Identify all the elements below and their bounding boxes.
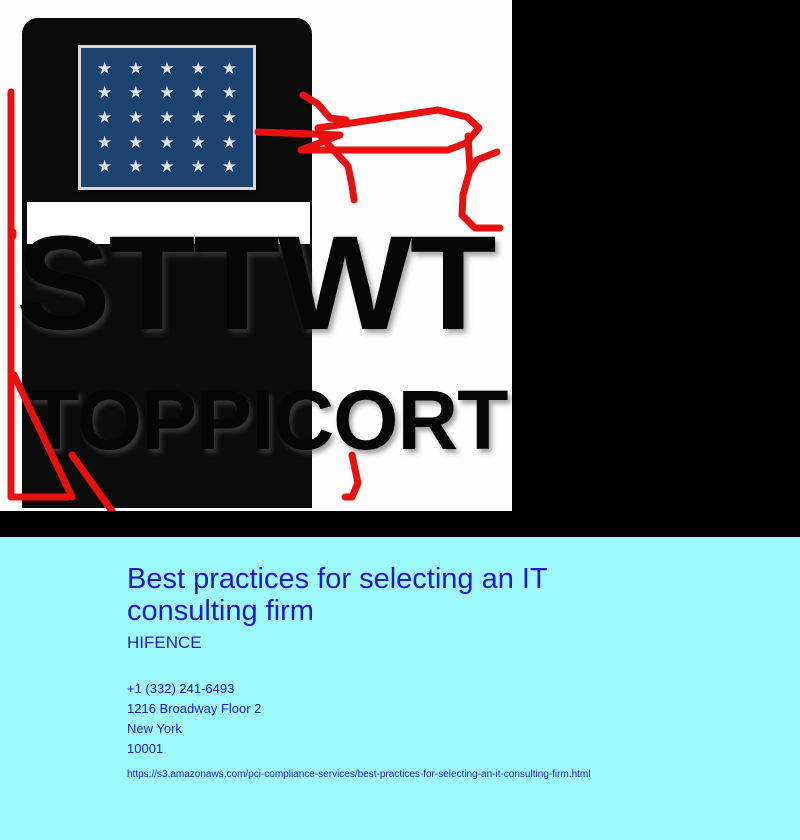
star-icon: ★ [128, 60, 143, 77]
page-root: ★ ★ ★ ★ ★ ★ ★ ★ ★ ★ ★ ★ ★ ★ ★ ★ ★ [0, 0, 800, 840]
red-stroke-down [318, 133, 354, 200]
contact-block: +1 (332) 241-6493 1216 Broadway Floor 2 … [127, 679, 780, 759]
star-icon: ★ [97, 158, 112, 175]
star-icon: ★ [159, 109, 174, 126]
star-icon: ★ [97, 60, 112, 77]
star-icon: ★ [191, 158, 206, 175]
star-icon: ★ [159, 134, 174, 151]
page-title: Best practices for selecting an IT consu… [127, 563, 627, 627]
contact-phone: +1 (332) 241-6493 [127, 679, 780, 699]
star-icon: ★ [159, 84, 174, 101]
artwork-headline-line2: TOPPICORT [28, 378, 508, 462]
thumbnail-media-area: ★ ★ ★ ★ ★ ★ ★ ★ ★ ★ ★ ★ ★ ★ ★ ★ ★ [0, 0, 800, 537]
artwork-canvas: ★ ★ ★ ★ ★ ★ ★ ★ ★ ★ ★ ★ ★ ★ ★ ★ ★ [0, 0, 512, 511]
star-icon: ★ [222, 84, 237, 101]
info-panel: Best practices for selecting an IT consu… [0, 537, 800, 840]
star-icon: ★ [128, 109, 143, 126]
star-icon: ★ [159, 158, 174, 175]
star-icon: ★ [128, 84, 143, 101]
star-grid: ★ ★ ★ ★ ★ ★ ★ ★ ★ ★ ★ ★ ★ ★ ★ ★ ★ [89, 56, 245, 179]
contact-street: 1216 Broadway Floor 2 [127, 699, 780, 719]
star-icon: ★ [97, 84, 112, 101]
contact-city: New York [127, 719, 780, 739]
star-icon: ★ [222, 60, 237, 77]
star-icon: ★ [159, 60, 174, 77]
star-panel: ★ ★ ★ ★ ★ ★ ★ ★ ★ ★ ★ ★ ★ ★ ★ ★ ★ [78, 45, 256, 190]
info-content: Best practices for selecting an IT consu… [127, 563, 780, 781]
contact-zip: 10001 [127, 739, 780, 759]
star-icon: ★ [128, 158, 143, 175]
star-icon: ★ [222, 134, 237, 151]
star-icon: ★ [97, 134, 112, 151]
brand-name: HIFENCE [127, 633, 780, 653]
star-icon: ★ [191, 134, 206, 151]
star-icon: ★ [191, 60, 206, 77]
star-icon: ★ [222, 109, 237, 126]
source-url[interactable]: https://s3.amazonaws.com/pci-compliance-… [127, 768, 780, 781]
star-icon: ★ [222, 158, 237, 175]
star-icon: ★ [128, 134, 143, 151]
star-icon: ★ [97, 109, 112, 126]
red-stroke-small [469, 152, 497, 173]
star-icon: ★ [191, 109, 206, 126]
artwork-headline-primary: STTWT [16, 224, 512, 344]
star-icon: ★ [191, 84, 206, 101]
artwork-headline-line1: STTWT [16, 224, 512, 344]
